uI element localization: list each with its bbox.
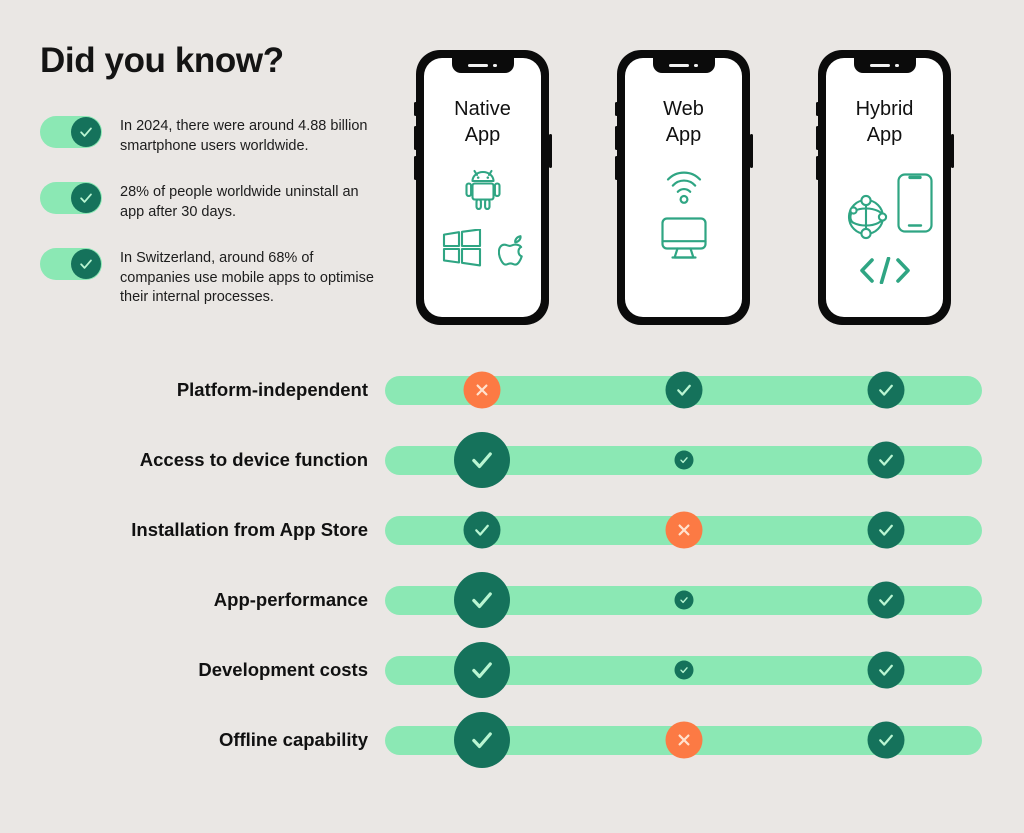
phone-label-line1: Hybrid	[826, 96, 943, 122]
phone-mockup-web[interactable]: WebApp	[617, 50, 750, 325]
row-label[interactable]: Offline capability	[219, 729, 368, 751]
check-icon	[472, 520, 493, 541]
os-icon-row[interactable]	[442, 229, 524, 267]
phone-mockup-hybrid[interactable]: HybridApp	[818, 50, 951, 325]
toggle-knob[interactable]	[71, 117, 101, 147]
check-icon	[467, 725, 497, 755]
phone-side-button[interactable]	[414, 102, 417, 116]
phone-volume-down-button[interactable]	[615, 156, 618, 180]
phone-notch[interactable]	[653, 58, 715, 73]
phone-label[interactable]: HybridApp	[826, 96, 943, 148]
phone-label-line2: App	[625, 122, 742, 148]
table-row[interactable]: Access to device function	[0, 425, 1024, 495]
toggle-switch-3[interactable]	[40, 248, 102, 280]
row-label[interactable]: Access to device function	[140, 449, 368, 471]
cell-yes-web[interactable]	[675, 451, 694, 470]
smartphone-icon-wrap[interactable]	[897, 173, 933, 238]
check-icon	[77, 255, 95, 273]
phone-label-line1: Web	[625, 96, 742, 122]
check-icon	[679, 455, 690, 466]
check-icon	[876, 590, 897, 611]
cell-yes-native[interactable]	[464, 512, 501, 549]
phone-volume-up-button[interactable]	[816, 126, 819, 150]
phone-notch[interactable]	[854, 58, 916, 73]
code-brackets-icon	[859, 257, 911, 284]
cell-no-web[interactable]	[666, 722, 703, 759]
phone-volume-down-button[interactable]	[816, 156, 819, 180]
cell-yes-hybrid[interactable]	[868, 372, 905, 409]
atom-icon-wrap[interactable]	[843, 194, 889, 245]
fact-text[interactable]: In Switzerland, around 68% of companies …	[120, 246, 380, 308]
phone-volume-up-button[interactable]	[615, 126, 618, 150]
check-icon	[876, 520, 897, 541]
phone-notch[interactable]	[452, 58, 514, 73]
cell-yes-hybrid[interactable]	[868, 722, 905, 759]
wifi-icon-wrap[interactable]	[666, 166, 702, 209]
check-icon	[876, 660, 897, 681]
phone-screen[interactable]: NativeApp	[424, 58, 541, 317]
infographic-canvas: Did you know? In 2024, there were around…	[0, 0, 1024, 833]
phone-speaker[interactable]	[468, 64, 488, 67]
cell-yes-web[interactable]	[675, 591, 694, 610]
cell-yes-hybrid[interactable]	[868, 512, 905, 549]
cell-yes-hybrid[interactable]	[868, 442, 905, 479]
cell-yes-native[interactable]	[454, 432, 510, 488]
toggle-knob[interactable]	[71, 249, 101, 279]
windows-icon	[442, 229, 482, 267]
phone-side-button[interactable]	[615, 102, 618, 116]
phone-volume-down-button[interactable]	[414, 156, 417, 180]
check-icon	[876, 450, 897, 471]
row-label[interactable]: App-performance	[214, 589, 368, 611]
smartphone-icon	[897, 173, 933, 233]
facts-list: In 2024, there were around 4.88 billion …	[40, 114, 380, 332]
toggle-knob[interactable]	[71, 183, 101, 213]
phone-mockup-native[interactable]: NativeApp	[416, 50, 549, 325]
phone-screen[interactable]: HybridApp	[826, 58, 943, 317]
comparison-table: Platform-independentAccess to device fun…	[0, 355, 1024, 775]
fact-item[interactable]: In 2024, there were around 4.88 billion …	[40, 114, 380, 156]
row-label[interactable]: Development costs	[198, 659, 368, 681]
monitor-icon-wrap[interactable]	[661, 217, 707, 264]
phone-power-button[interactable]	[750, 134, 753, 168]
check-icon	[77, 189, 95, 207]
hybrid-icon-row[interactable]	[837, 166, 933, 245]
phone-camera[interactable]	[895, 64, 899, 68]
cell-yes-native[interactable]	[454, 572, 510, 628]
phone-label-line2: App	[424, 122, 541, 148]
phone-power-button[interactable]	[951, 134, 954, 168]
cell-yes-web[interactable]	[666, 372, 703, 409]
android-icon	[465, 168, 501, 212]
apple-icon	[498, 235, 524, 267]
check-icon	[679, 595, 690, 606]
atom-network-icon	[843, 194, 889, 240]
check-icon	[876, 730, 897, 751]
phone-label[interactable]: WebApp	[625, 96, 742, 148]
cross-icon	[674, 730, 695, 751]
cell-yes-native[interactable]	[454, 712, 510, 768]
table-row[interactable]: Offline capability	[0, 705, 1024, 775]
cell-yes-web[interactable]	[675, 661, 694, 680]
cell-yes-hybrid[interactable]	[868, 652, 905, 689]
fact-item[interactable]: 28% of people worldwide uninstall an app…	[40, 180, 380, 222]
phone-icon-group[interactable]	[625, 162, 742, 307]
check-icon	[467, 445, 497, 475]
check-icon	[467, 585, 497, 615]
check-icon	[467, 655, 497, 685]
check-icon	[77, 123, 95, 141]
phone-label-line1: Native	[424, 96, 541, 122]
check-icon	[679, 665, 690, 676]
fact-text[interactable]: 28% of people worldwide uninstall an app…	[120, 180, 380, 222]
phone-icon-group[interactable]	[424, 162, 541, 307]
check-icon	[876, 380, 897, 401]
fact-text[interactable]: In 2024, there were around 4.88 billion …	[120, 114, 380, 156]
phone-camera[interactable]	[694, 64, 698, 68]
wifi-icon	[666, 166, 702, 204]
cell-yes-hybrid[interactable]	[868, 582, 905, 619]
cross-icon	[472, 380, 493, 401]
desktop-monitor-icon	[661, 217, 707, 259]
phone-side-button[interactable]	[816, 102, 819, 116]
phone-power-button[interactable]	[549, 134, 552, 168]
phone-icon-group[interactable]	[826, 162, 943, 307]
phone-camera[interactable]	[493, 64, 497, 68]
phone-speaker[interactable]	[870, 64, 890, 67]
table-row[interactable]: App-performance	[0, 565, 1024, 635]
table-row[interactable]: Development costs	[0, 635, 1024, 705]
table-row[interactable]: Installation from App Store	[0, 495, 1024, 565]
code-icon-wrap[interactable]	[859, 257, 911, 289]
check-icon	[674, 380, 695, 401]
cell-yes-native[interactable]	[454, 642, 510, 698]
cell-no-native[interactable]	[464, 372, 501, 409]
phone-label-line2: App	[826, 122, 943, 148]
android-icon-wrap[interactable]	[465, 168, 501, 217]
cell-no-web[interactable]	[666, 512, 703, 549]
phone-label[interactable]: NativeApp	[424, 96, 541, 148]
phone-volume-up-button[interactable]	[414, 126, 417, 150]
table-row[interactable]: Platform-independent	[0, 355, 1024, 425]
toggle-switch-2[interactable]	[40, 182, 102, 214]
phone-speaker[interactable]	[669, 64, 689, 67]
phone-screen[interactable]: WebApp	[625, 58, 742, 317]
fact-item[interactable]: In Switzerland, around 68% of companies …	[40, 246, 380, 308]
page-title: Did you know?	[40, 41, 284, 81]
row-label[interactable]: Platform-independent	[177, 379, 368, 401]
toggle-switch-1[interactable]	[40, 116, 102, 148]
cross-icon	[674, 520, 695, 541]
row-label[interactable]: Installation from App Store	[131, 519, 368, 541]
